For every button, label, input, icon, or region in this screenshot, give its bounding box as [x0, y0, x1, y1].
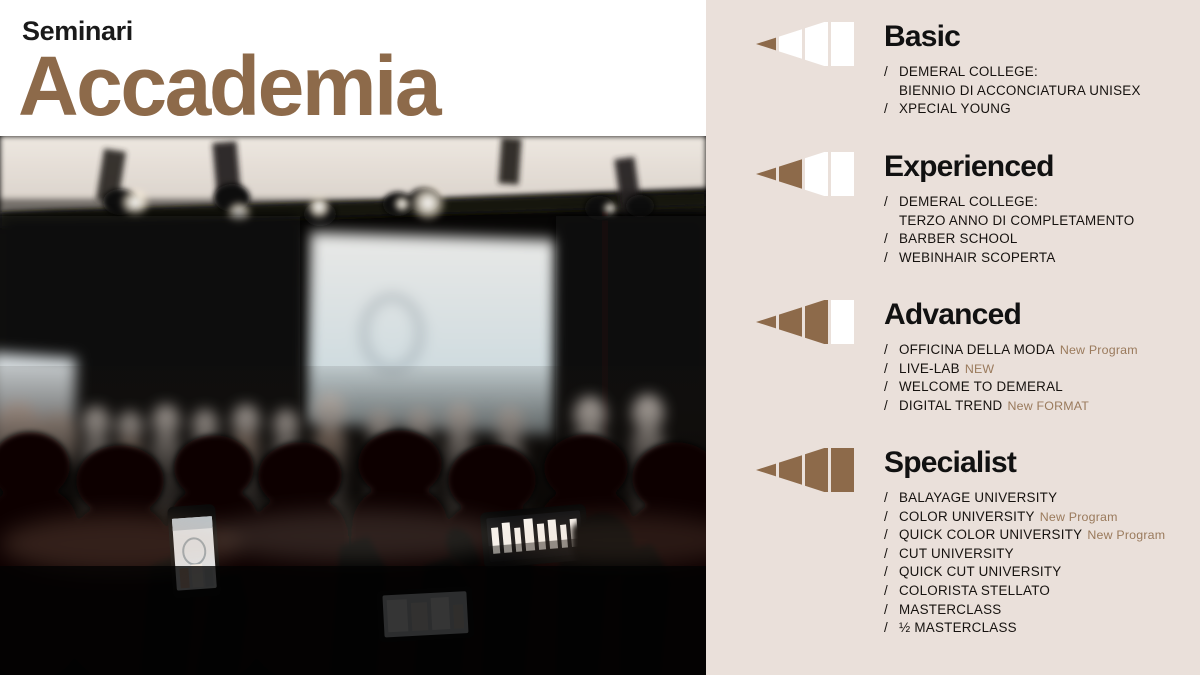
item-label: BALAYAGE UNIVERSITY	[899, 490, 1057, 505]
item-label: LIVE-LAB	[899, 361, 960, 376]
bullet-mark: /	[884, 249, 899, 268]
list-item[interactable]: /BARBER SCHOOL	[884, 230, 1200, 249]
item-label: MASTERCLASS	[899, 602, 1001, 617]
section-body-advanced: Advanced /OFFICINA DELLA MODANew Program…	[884, 300, 1200, 415]
list-item[interactable]: /COLOR UNIVERSITYNew Program	[884, 508, 1200, 527]
item-label: WEBINHAIR SCOPERTA	[899, 250, 1056, 265]
list-item[interactable]: /COLORISTA STELLATO	[884, 582, 1200, 601]
bullet-mark: /	[884, 230, 899, 249]
bullet-mark: /	[884, 508, 899, 527]
title-header: Seminari Accademia	[0, 0, 706, 136]
slide-root: Seminari Accademia	[0, 0, 1200, 675]
item-label: XPECIAL YOUNG	[899, 101, 1011, 116]
bullet-mark: /	[884, 601, 899, 620]
status-badge: New FORMAT	[1002, 399, 1089, 413]
list-item[interactable]: /MASTERCLASS	[884, 601, 1200, 620]
item-label: OFFICINA DELLA MODA	[899, 342, 1055, 357]
status-badge: New Program	[1035, 510, 1118, 524]
list-item[interactable]: /QUICK COLOR UNIVERSITYNew Program	[884, 526, 1200, 545]
section-title: Advanced	[884, 300, 1200, 330]
bullet-mark: /	[884, 100, 899, 119]
bullet-mark: /	[884, 378, 899, 397]
item-label: QUICK CUT UNIVERSITY	[899, 564, 1061, 579]
chevron-level-icon	[756, 300, 860, 344]
bullet-mark: /	[884, 397, 899, 416]
item-subline: TERZO ANNO DI COMPLETAMENTO	[884, 212, 1200, 231]
list-item[interactable]: /OFFICINA DELLA MODANew Program	[884, 341, 1200, 360]
item-label: COLORISTA STELLATO	[899, 583, 1050, 598]
item-label: BARBER SCHOOL	[899, 231, 1018, 246]
chevron-level-icon	[756, 448, 860, 492]
section-title: Experienced	[884, 152, 1200, 182]
item-label: CUT UNIVERSITY	[899, 546, 1014, 561]
bullet-mark: /	[884, 63, 899, 82]
bullet-mark: /	[884, 341, 899, 360]
list-item[interactable]: /DEMERAL COLLEGE:	[884, 193, 1200, 212]
chevron-level-icon	[756, 22, 860, 66]
bullet-mark: /	[884, 360, 899, 379]
section-title: Specialist	[884, 448, 1200, 478]
page-title: Accademia	[18, 44, 439, 128]
item-label: COLOR UNIVERSITY	[899, 509, 1035, 524]
item-label: DIGITAL TREND	[899, 398, 1002, 413]
list-item[interactable]: /XPECIAL YOUNG	[884, 100, 1200, 119]
section-body-basic: Basic /DEMERAL COLLEGE: BIENNIO DI ACCON…	[884, 22, 1200, 119]
bullet-mark: /	[884, 619, 899, 638]
bullet-mark: /	[884, 545, 899, 564]
list-item[interactable]: /CUT UNIVERSITY	[884, 545, 1200, 564]
status-badge: New Program	[1055, 343, 1138, 357]
list-item[interactable]: /QUICK CUT UNIVERSITY	[884, 563, 1200, 582]
left-column: Seminari Accademia	[0, 0, 706, 675]
chevron-level-icon	[756, 152, 860, 196]
item-label: ½ MASTERCLASS	[899, 620, 1017, 635]
list-item[interactable]: /LIVE-LABNEW	[884, 360, 1200, 379]
item-label: DEMERAL COLLEGE:	[899, 64, 1038, 79]
program-list: /BALAYAGE UNIVERSITY /COLOR UNIVERSITYNe…	[884, 489, 1200, 638]
section-title: Basic	[884, 22, 1200, 52]
list-item[interactable]: /DEMERAL COLLEGE:	[884, 63, 1200, 82]
status-badge: New Program	[1082, 528, 1165, 542]
program-list: /DEMERAL COLLEGE: BIENNIO DI ACCONCIATUR…	[884, 63, 1200, 119]
list-item[interactable]: /DIGITAL TRENDNew FORMAT	[884, 397, 1200, 416]
item-subline: BIENNIO DI ACCONCIATURA UNISEX	[884, 82, 1200, 101]
bullet-mark: /	[884, 489, 899, 508]
bullet-mark: /	[884, 193, 899, 212]
section-body-experienced: Experienced /DEMERAL COLLEGE: TERZO ANNO…	[884, 152, 1200, 267]
list-item[interactable]: /WELCOME TO DEMERAL	[884, 378, 1200, 397]
program-list: /DEMERAL COLLEGE: TERZO ANNO DI COMPLETA…	[884, 193, 1200, 267]
bullet-mark: /	[884, 582, 899, 601]
stage-photo	[0, 136, 706, 675]
list-item[interactable]: /BALAYAGE UNIVERSITY	[884, 489, 1200, 508]
item-label: WELCOME TO DEMERAL	[899, 379, 1063, 394]
list-item[interactable]: /½ MASTERCLASS	[884, 619, 1200, 638]
right-panel: Basic /DEMERAL COLLEGE: BIENNIO DI ACCON…	[706, 0, 1200, 675]
item-label: QUICK COLOR UNIVERSITY	[899, 527, 1082, 542]
bullet-mark: /	[884, 526, 899, 545]
bullet-mark: /	[884, 563, 899, 582]
status-badge: NEW	[960, 362, 995, 376]
section-body-specialist: Specialist /BALAYAGE UNIVERSITY /COLOR U…	[884, 448, 1200, 638]
list-item[interactable]: /WEBINHAIR SCOPERTA	[884, 249, 1200, 268]
item-label: DEMERAL COLLEGE:	[899, 194, 1038, 209]
program-list: /OFFICINA DELLA MODANew Program /LIVE-LA…	[884, 341, 1200, 415]
